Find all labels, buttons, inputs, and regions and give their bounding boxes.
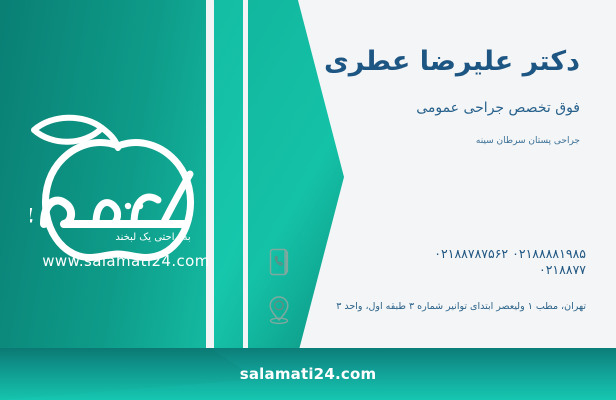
address-text-wrap: تهران، مطب ۱ ولیعصر ابتدای توانیر شماره … (296, 293, 592, 314)
map-pin-icon (262, 293, 296, 332)
doctor-specialty: فوق تخصص جراحی عمومی (416, 100, 580, 116)
logo-url[interactable]: www.salamati24.com (26, 252, 226, 270)
footer-bar: salamati24.com (0, 348, 616, 400)
business-card: 24 به راحتی یک لبخند www.salamati24.com … (0, 0, 616, 400)
address-row: تهران، مطب ۱ ولیعصر ابتدای توانیر شماره … (262, 293, 592, 332)
address-line: تهران، مطب ۱ ولیعصر ابتدای توانیر شماره … (300, 293, 586, 314)
brand-logo: 24 به راحتی یک لبخند www.salamati24.com (18, 104, 228, 279)
doctor-subspecialty: جراحی پستان سرطان سینه (476, 136, 580, 146)
badge-24-icon: 24 (30, 200, 86, 234)
contact-block: ۰۲۱۸۸۸۸۱۹۸۵ ۰۲۱۸۸۷۸۷۵۶۲ ۰۲۱۸۸۷۷ تهران، م… (262, 246, 592, 340)
phone-numbers: ۰۲۱۸۸۸۸۱۹۸۵ ۰۲۱۸۸۷۸۷۵۶۲ ۰۲۱۸۸۷۷ (296, 246, 592, 278)
footer-site-label[interactable]: salamati24.com (0, 348, 616, 400)
phone-line-1[interactable]: ۰۲۱۸۸۸۸۱۹۸۵ ۰۲۱۸۸۷۸۷۵۶۲ (300, 246, 586, 262)
logo-tagline: به راحتی یک لبخند (78, 232, 228, 243)
doctor-name: دکتر علیرضا عطری (324, 46, 580, 77)
phone-row: ۰۲۱۸۸۸۸۱۹۸۵ ۰۲۱۸۸۷۸۷۵۶۲ ۰۲۱۸۸۷۷ (262, 246, 592, 285)
phone-line-2[interactable]: ۰۲۱۸۸۷۷ (300, 262, 586, 278)
phone-book-icon (262, 246, 296, 285)
svg-text:24: 24 (30, 203, 34, 232)
